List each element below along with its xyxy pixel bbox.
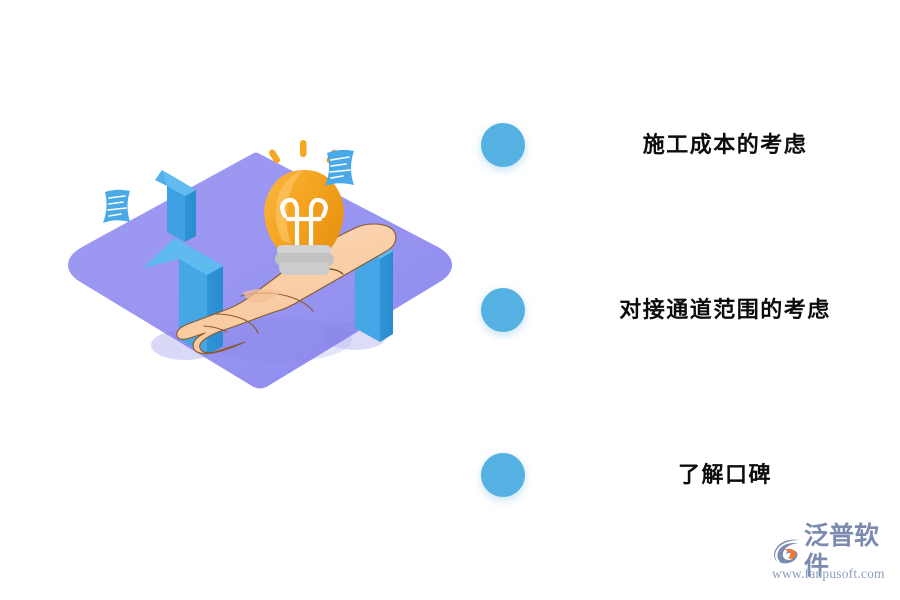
bullet-label-3: 了解口碑: [570, 445, 880, 505]
bullet-label-2: 对接通道范围的考虑: [570, 280, 880, 340]
hand-holding-lightbulb-illustration: [55, 140, 465, 410]
bullet-dot-icon-3: [481, 453, 525, 497]
bullet-item-cost[interactable]: 施工成本的考虑: [470, 115, 890, 175]
bullet-label-1: 施工成本的考虑: [570, 115, 880, 175]
bullet-dot-icon-2: [481, 288, 525, 332]
logo-top-row: 泛普软件: [770, 535, 895, 567]
bullet-item-reputation[interactable]: 了解口碑: [470, 445, 890, 505]
light-bulb-icon: [264, 170, 344, 275]
bullet-list: 施工成本的考虑 对接通道范围的考虑 了解口碑: [470, 100, 890, 520]
fanpusoft-logo-icon: [770, 536, 802, 566]
spark-rays-icon: [268, 140, 339, 165]
infographic-canvas: 施工成本的考虑 对接通道范围的考虑 了解口碑 泛普软件 www.fanpusof…: [0, 0, 900, 600]
bullet-dot-icon-1: [481, 123, 525, 167]
bullet-item-channel-scope[interactable]: 对接通道范围的考虑: [470, 280, 890, 340]
logo-website-url: www.fanpusoft.com: [770, 566, 895, 582]
document-scrap-left-icon: [103, 190, 130, 223]
fanpusoft-watermark[interactable]: 泛普软件 www.fanpusoft.com: [770, 535, 895, 587]
document-scrap-right-icon: [325, 150, 354, 186]
